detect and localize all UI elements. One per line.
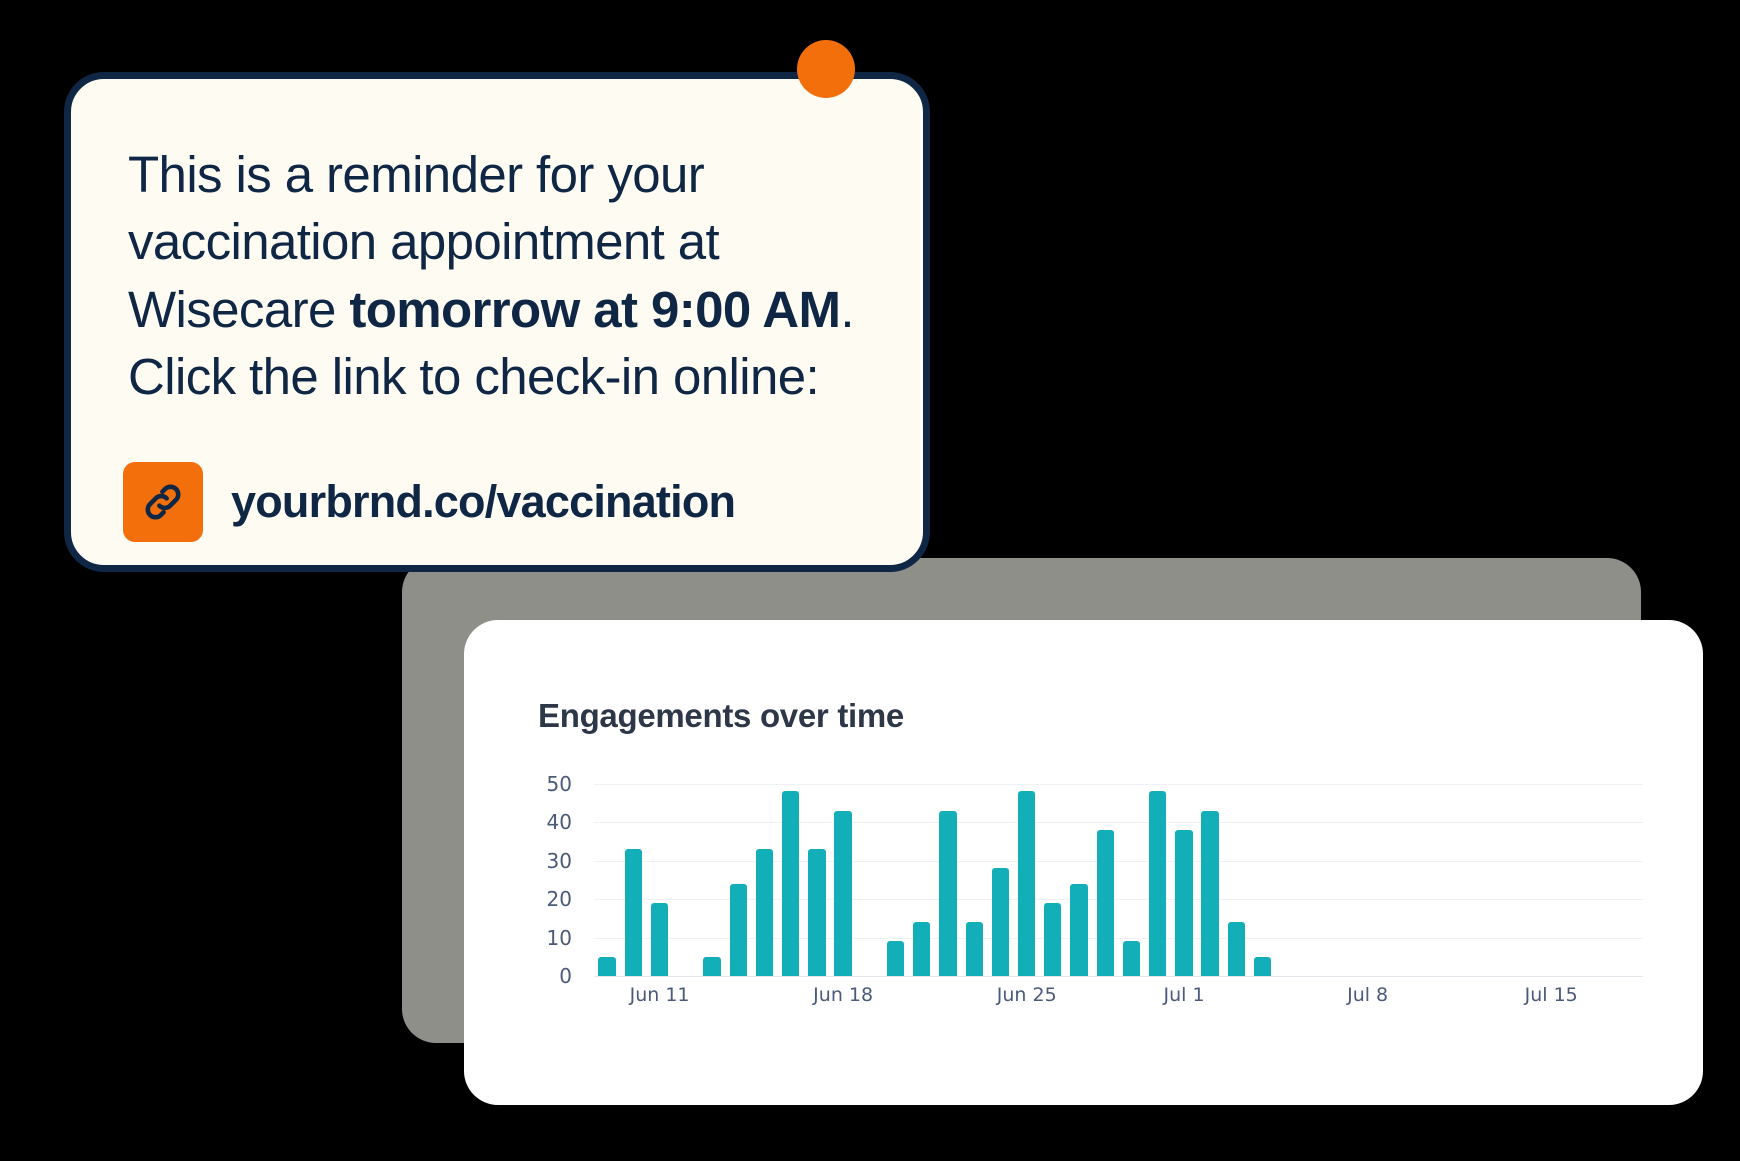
x-axis-tick-label: Jun 11 [630,984,690,1006]
bar-slot [1564,776,1590,976]
bar-slot [620,776,646,976]
bar-slot [830,776,856,976]
bar-slot [856,776,882,976]
bar-slot [1407,776,1433,976]
bar[interactable] [756,849,773,976]
bar-slot [1512,776,1538,976]
bar-slot [1617,776,1643,976]
bar-slot [1354,776,1380,976]
bar-slot [1249,776,1275,976]
bar-slot [1276,776,1302,976]
y-axis-tick-label: 10 [547,926,572,950]
x-axis-tick-label: Jun 18 [813,984,873,1006]
y-axis-tick-label: 20 [547,887,572,911]
bar[interactable] [625,849,642,976]
bar-series [594,776,1643,976]
bar-slot [1092,776,1118,976]
bar[interactable] [1175,830,1192,976]
bar-slot [987,776,1013,976]
bar-slot [699,776,725,976]
bar-slot [961,776,987,976]
bar[interactable] [887,941,904,976]
bar[interactable] [1018,791,1035,976]
bar-slot [673,776,699,976]
bar-slot [646,776,672,976]
bar[interactable] [1254,957,1271,976]
bar[interactable] [651,903,668,976]
bar-slot [1381,776,1407,976]
y-axis-tick-label: 0 [559,964,572,988]
bar-slot [594,776,620,976]
bar[interactable] [598,957,615,976]
analytics-dashboard-card: Engagements over time 01020304050 Jun 11… [464,620,1703,1105]
link-icon [123,462,203,542]
orange-accent-dot [797,40,855,98]
bar[interactable] [1070,884,1087,976]
y-axis-tick-label: 40 [547,810,572,834]
bar-slot [1171,776,1197,976]
x-axis-tick-label: Jul 1 [1164,984,1205,1006]
bar-slot [778,776,804,976]
message-text-emphasis: tomorrow at 9:00 AM [349,281,840,338]
bar[interactable] [913,922,930,976]
bar-slot [1040,776,1066,976]
bar-slot [1433,776,1459,976]
bar-slot [1223,776,1249,976]
x-axis: Jun 11Jun 18Jun 25Jul 1Jul 8Jul 15 [594,984,1643,1018]
bar-slot [1485,776,1511,976]
bar-slot [1302,776,1328,976]
bar-slot [935,776,961,976]
gridline [594,976,1643,977]
bar-slot [909,776,935,976]
sms-message-card: This is a reminder for your vaccination … [64,72,930,572]
bar-slot [1590,776,1616,976]
link-row[interactable]: yourbrnd.co/vaccination [123,462,735,542]
bar-slot [1145,776,1171,976]
bar-slot [1328,776,1354,976]
y-axis-tick-label: 30 [547,849,572,873]
bar-slot [1459,776,1485,976]
y-axis: 01020304050 [538,776,584,976]
bar[interactable] [992,868,1009,976]
bar-slot [1538,776,1564,976]
bar-slot [1197,776,1223,976]
bar[interactable] [1123,941,1140,976]
x-axis-tick-label: Jul 8 [1347,984,1388,1006]
bar[interactable] [966,922,983,976]
bar-slot [725,776,751,976]
bar[interactable] [1044,903,1061,976]
bar[interactable] [939,811,956,976]
bar[interactable] [782,791,799,976]
bar[interactable] [730,884,747,976]
bar[interactable] [1149,791,1166,976]
bar-slot [1118,776,1144,976]
link-url-text[interactable]: yourbrnd.co/vaccination [231,476,735,528]
bar[interactable] [808,849,825,976]
message-text: This is a reminder for your vaccination … [128,141,883,410]
bar-slot [804,776,830,976]
bar[interactable] [703,957,720,976]
y-axis-tick-label: 50 [547,772,572,796]
chart-plot-area: 01020304050 Jun 11Jun 18Jun 25Jul 1Jul 8… [538,776,1643,1024]
x-axis-tick-label: Jul 15 [1525,984,1578,1006]
bar[interactable] [1228,922,1245,976]
bar-slot [751,776,777,976]
bar[interactable] [834,811,851,976]
x-axis-tick-label: Jun 25 [997,984,1057,1006]
chart-title: Engagements over time [538,697,904,735]
engagements-chart-panel: Engagements over time 01020304050 Jun 11… [464,620,1703,1105]
bar[interactable] [1097,830,1114,976]
bar[interactable] [1201,811,1218,976]
bar-slot [882,776,908,976]
bar-slot [1014,776,1040,976]
bar-slot [1066,776,1092,976]
